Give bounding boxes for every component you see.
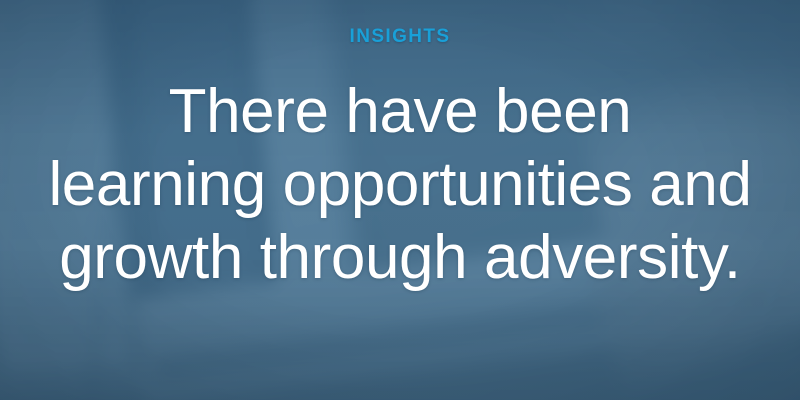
headline-line-1: There have been bbox=[30, 75, 770, 148]
eyebrow-label: INSIGHTS bbox=[350, 27, 451, 46]
headline-line-2: learning opportunities and bbox=[30, 148, 770, 221]
insights-quote-card: INSIGHTS There have been learning opport… bbox=[0, 0, 800, 400]
headline: There have been learning opportunities a… bbox=[30, 75, 770, 294]
card-content: INSIGHTS There have been learning opport… bbox=[0, 0, 800, 400]
headline-line-3: growth through adversity. bbox=[30, 221, 770, 294]
